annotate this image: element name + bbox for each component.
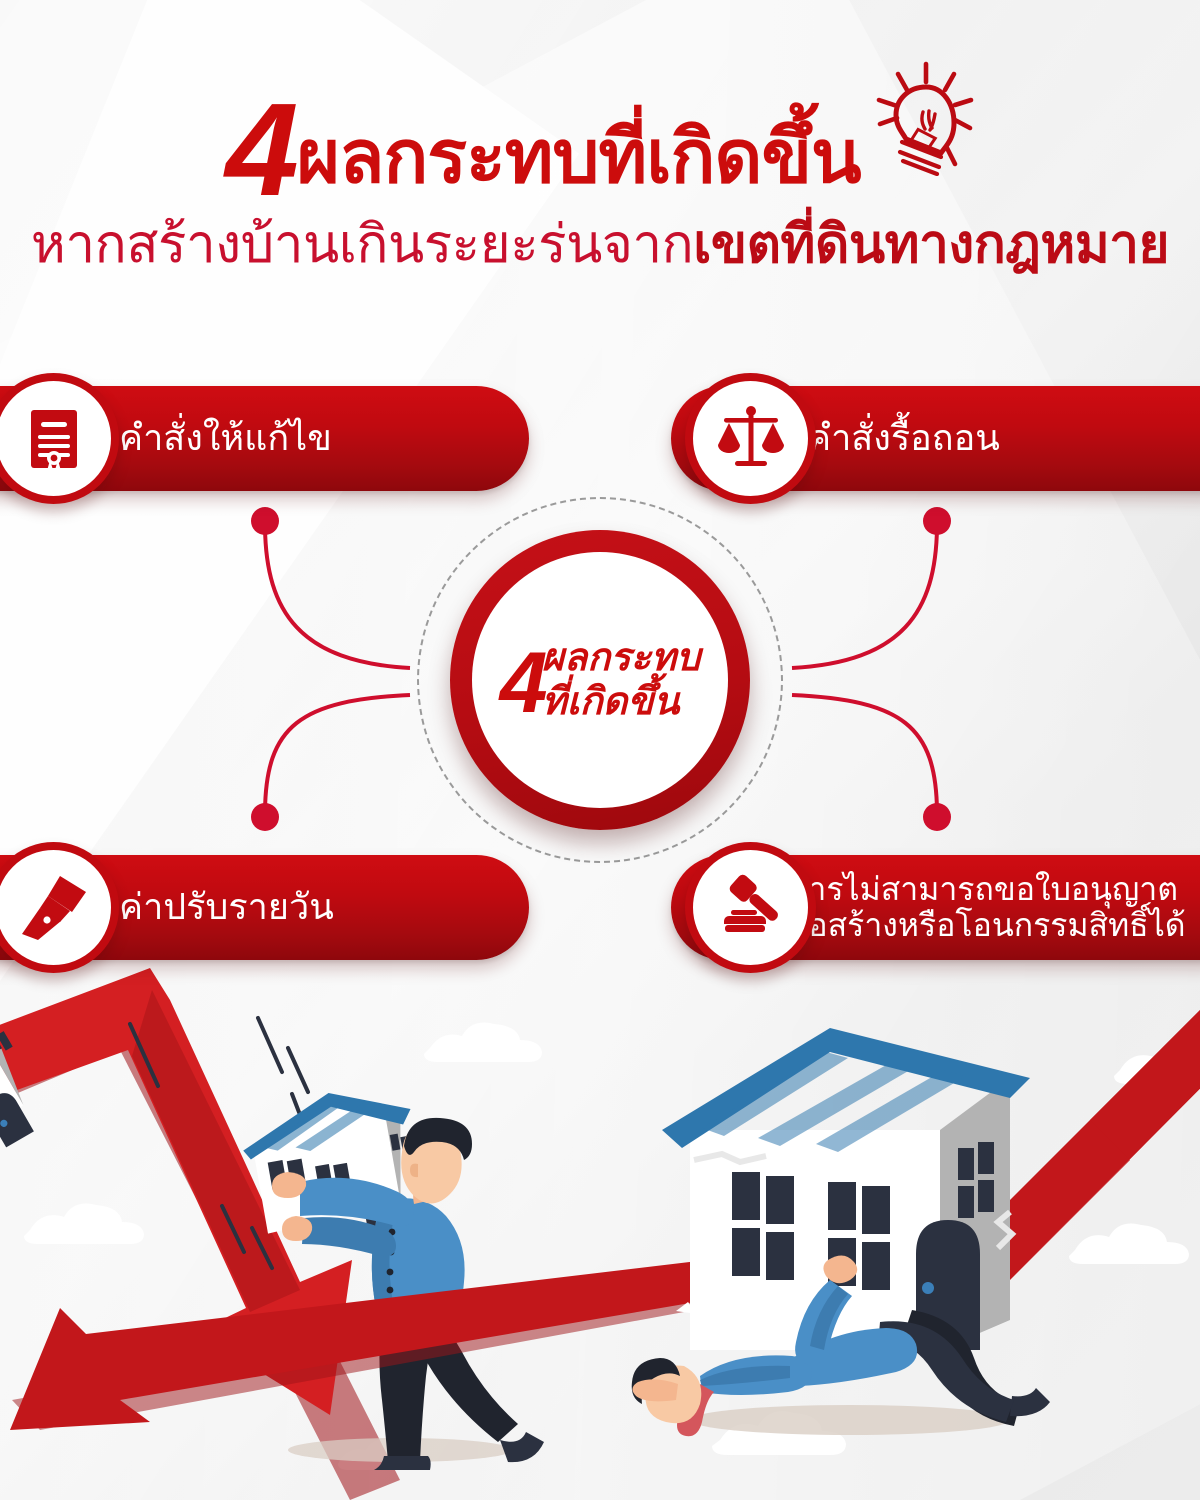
- right-scene: [10, 970, 1200, 1436]
- center-lines: ผลกระทบ ที่เกิดขึ้น: [542, 636, 701, 724]
- headline-title: ผลกระทบที่เกิดขึ้น: [297, 120, 861, 194]
- title-row: 4 ผลกระทบที่เกิดขึ้น: [0, 78, 1200, 198]
- certificate-icon: [0, 373, 119, 504]
- item-correction-order[interactable]: คำสั่งให้แก้ไข: [0, 386, 529, 491]
- subtitle-normal: หากสร้างบ้านเกินระยะร่นจาก: [31, 215, 693, 274]
- house-small-upper: [0, 965, 71, 1209]
- ground-shadow-right: [690, 1405, 1010, 1435]
- center-badge: 4 ผลกระทบ ที่เกิดขึ้น: [417, 497, 783, 863]
- item-label: ค่าปรับรายวัน: [119, 887, 334, 927]
- center-line-1: ผลกระทบ: [542, 636, 701, 680]
- center-disc: 4 ผลกระทบ ที่เกิดขึ้น: [472, 552, 728, 808]
- pen-nib-icon: [0, 842, 119, 973]
- red-ring: 4 ผลกระทบ ที่เกิดขึ้น: [450, 530, 750, 830]
- center-text: 4 ผลกระทบ ที่เกิดขึ้น: [500, 636, 700, 724]
- lightbulb-icon: [871, 60, 975, 180]
- item-demolition-order[interactable]: คำสั่งรื้อถอน: [671, 386, 1200, 491]
- item-label: การไม่สามารถขอใบอนุญาต ก่อสร้างหรือโอนกร…: [789, 872, 1186, 944]
- center-line-2: ที่เกิดขึ้น: [542, 680, 701, 724]
- headline-number: 4: [225, 96, 294, 204]
- item-label: คำสั่งให้แก้ไข: [119, 418, 332, 458]
- item-daily-fine[interactable]: ค่าปรับรายวัน: [0, 855, 529, 960]
- subtitle-strong: เขตที่ดินทางกฎหมาย: [693, 215, 1169, 274]
- item-label: คำสั่งรื้อถอน: [807, 418, 1000, 458]
- illustration: [0, 960, 1200, 1500]
- gavel-icon: [685, 842, 816, 973]
- item-no-permit[interactable]: การไม่สามารถขอใบอนุญาต ก่อสร้างหรือโอนกร…: [671, 855, 1200, 960]
- center-number: 4: [500, 640, 544, 726]
- infographic-canvas: 4 ผลกระทบที่เกิดขึ้น: [0, 0, 1200, 1500]
- subtitle: หากสร้างบ้านเกินระยะร่นจากเขตที่ดินทางกฎ…: [0, 216, 1200, 274]
- header: 4 ผลกระทบที่เกิดขึ้น: [0, 78, 1200, 274]
- scales-of-justice-icon: [685, 373, 816, 504]
